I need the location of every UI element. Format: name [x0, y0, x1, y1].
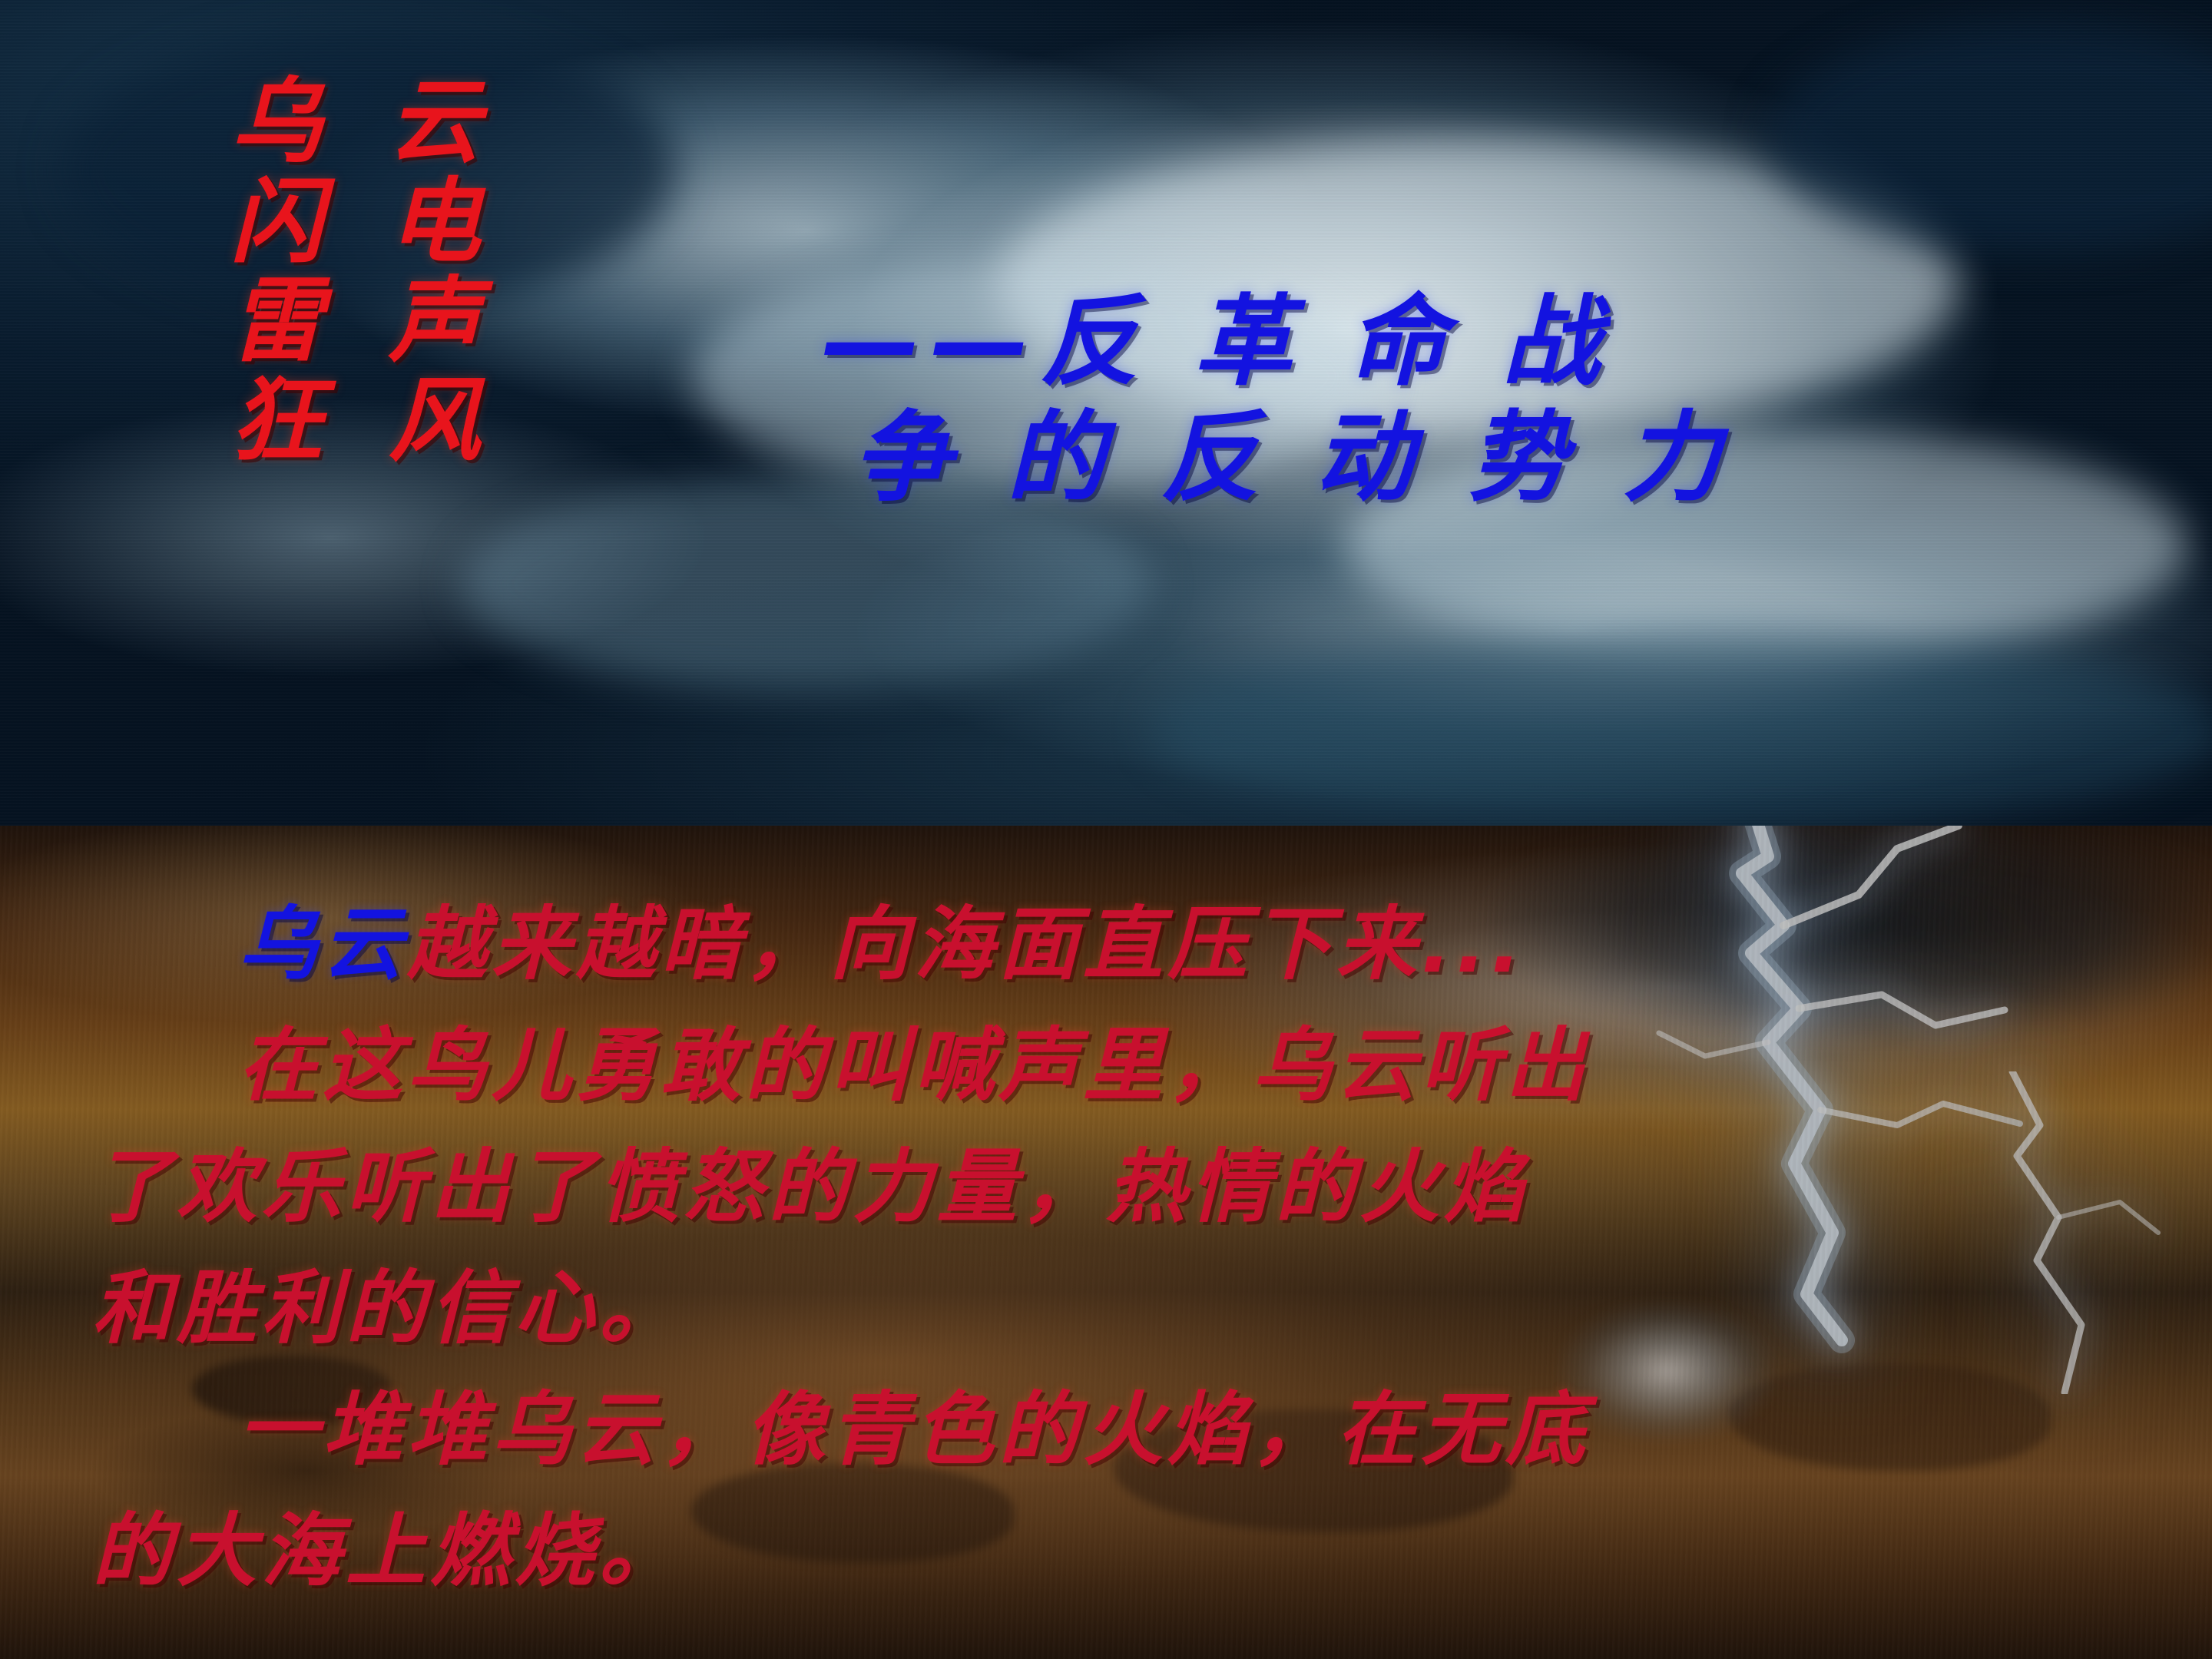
body-line-5: 一堆堆乌云，像青色的火焰，在无底 [92, 1369, 2166, 1490]
title-line-2: 闪 电 [230, 173, 591, 273]
subtitle-block: ——反 革 命 战 争 的 反 动 势 力 [822, 284, 2143, 516]
body-line-1: 乌云越来越暗，向海面直压下来... [92, 883, 2166, 1005]
title-line-3: 雷 声 [230, 272, 591, 372]
body-line-2: 在这鸟儿勇敢的叫喊声里，乌云听出 [92, 1005, 2166, 1126]
body-line-1-text: 越来越暗，向海面直压下来... [407, 897, 1526, 991]
title-word-block: 乌 云 闪 电 雷 声 狂 风 [230, 73, 591, 471]
title-line-4: 狂 风 [230, 372, 591, 472]
presentation-slide: 乌 云 闪 电 雷 声 狂 风 ——反 革 命 战 争 的 反 动 势 力 乌云… [0, 0, 2212, 1659]
title-line-1: 乌 云 [230, 73, 591, 173]
body-text-block: 乌云越来越暗，向海面直压下来... 在这鸟儿勇敢的叫喊声里，乌云听出 了欢乐听出… [92, 883, 2166, 1611]
body-line-6: 的大海上燃烧。 [92, 1490, 2166, 1611]
subtitle-line-2: 争 的 反 动 势 力 [822, 400, 2143, 516]
cloud-wisp-dark [1767, 23, 2212, 253]
subtitle-line-1: ——反 革 命 战 [822, 284, 2143, 400]
body-line-3: 了欢乐听出了愤怒的力量，热情的火焰 [92, 1126, 2166, 1247]
cloud-wisp [1152, 630, 2212, 826]
body-line-1-highlight: 乌云 [238, 897, 407, 991]
body-line-4: 和胜利的信心。 [92, 1247, 2166, 1369]
